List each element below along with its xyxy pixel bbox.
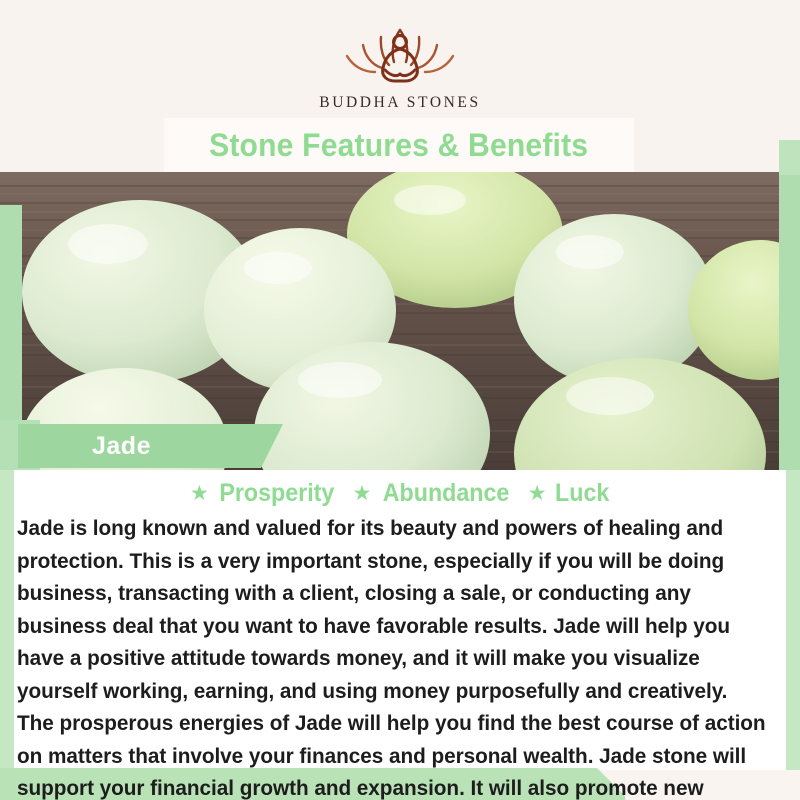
benefit-label: Luck	[555, 479, 609, 508]
star-icon: ★	[189, 483, 210, 504]
benefit-label: Abundance	[382, 479, 509, 508]
stone-name-banner: Jade	[18, 424, 283, 468]
frame-accent-right	[779, 140, 800, 470]
brand-logo: BUDDHA STONES	[0, 18, 800, 112]
star-icon: ★	[527, 483, 548, 504]
frame-accent-right-top	[779, 140, 800, 175]
benefit-label: Prosperity	[219, 479, 334, 508]
lotus-meditation-icon	[325, 18, 475, 90]
benefits-row: ★ Prosperity ★ Abundance ★ Luck	[14, 476, 786, 510]
frame-accent-body-right	[786, 470, 800, 770]
benefit-item-luck: ★ Luck	[527, 479, 611, 508]
page-title: Stone Features & Benefits	[209, 127, 588, 164]
stone-description: Jade is long known and valued for its be…	[17, 512, 766, 800]
frame-accent-body-left	[0, 470, 14, 770]
stone-name: Jade	[92, 432, 151, 461]
star-icon: ★	[352, 483, 373, 504]
brand-name: BUDDHA STONES	[0, 94, 800, 112]
benefit-item-abundance: ★ Abundance	[352, 479, 514, 508]
stone-info-poster: BUDDHA STONES	[0, 0, 800, 800]
benefit-item-prosperity: ★ Prosperity	[189, 479, 339, 508]
title-banner: Stone Features & Benefits	[164, 118, 634, 172]
